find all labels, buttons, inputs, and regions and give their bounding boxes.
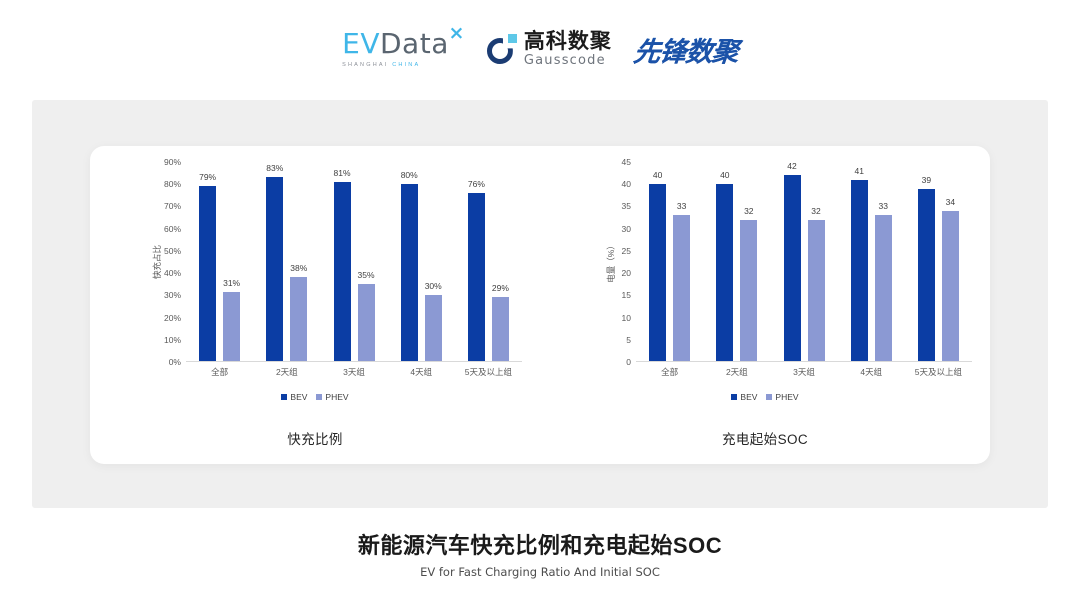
bar-phev[interactable]: 30% [425,295,442,361]
chart-title-right: 充电起始SOC [548,428,982,448]
x-axis-category-label: 全部 [186,366,253,378]
bar-value-label: 40 [653,170,662,180]
bar-group: 83%38% [253,162,320,361]
bar-phev[interactable]: 29% [492,297,509,361]
evdata-data-text: Data [380,27,449,60]
bar-groups-right: 40334032423241333934 [636,162,972,361]
gausscode-logo: 高科数聚 Gausscode [487,31,612,67]
bar-value-label: 33 [878,201,887,211]
bar-group: 4133 [838,162,905,361]
bar-bev[interactable]: 76% [468,193,485,361]
bar-group: 4033 [636,162,703,361]
y-tick-left: 40% [164,268,181,278]
evdata-logo: EVData × SHANGHAI CHINA [342,30,465,68]
bar-bev[interactable]: 80% [401,184,418,361]
y-axis-ticks-left: 0%10%20%30%40%50%60%70%80%90% [156,162,184,362]
bar-group: 79%31% [186,162,253,361]
evdata-tagline: SHANGHAI CHINA [342,62,420,68]
bar-value-label: 83% [266,163,283,173]
bar-phev[interactable]: 38% [290,277,307,361]
bar-value-label: 39 [922,175,931,185]
x-axis-categories-right: 全部2天组3天组4天组5天及以上组 [636,366,972,378]
bar-bev[interactable]: 41 [851,180,868,361]
y-tick-left: 20% [164,313,181,323]
gausscode-square-shape [508,34,517,43]
gausscode-cn-name: 高科数聚 [524,31,612,52]
bar-group: 4232 [770,162,837,361]
logo-bar: EVData × SHANGHAI CHINA 高科数聚 Gausscode 先… [0,0,1080,92]
legend-item-bev[interactable]: BEV [731,392,757,402]
y-tick-right: 30 [622,224,631,234]
x-axis-category-label: 2天组 [253,366,320,378]
bar-group: 76%29% [455,162,522,361]
bar-bev[interactable]: 83% [266,177,283,361]
evdata-wordmark: EVData × [342,30,449,58]
plot-area-left: 79%31%83%38%81%35%80%30%76%29% [186,162,522,362]
bar-group: 4032 [703,162,770,361]
y-tick-right: 40 [622,179,631,189]
bar-phev[interactable]: 32 [808,220,825,362]
legend-swatch-icon [766,394,772,400]
legend-label: BEV [740,392,757,402]
bar-value-label: 76% [468,179,485,189]
footer-title-en: EV for Fast Charging Ratio And Initial S… [0,565,1080,579]
y-tick-left: 10% [164,335,181,345]
x-axis-category-label: 4天组 [838,366,905,378]
y-tick-left: 80% [164,179,181,189]
chart-title-left: 快充比例 [98,428,532,448]
bar-group: 80%30% [388,162,455,361]
x-axis-categories-left: 全部2天组3天组4天组5天及以上组 [186,366,522,378]
legend-label: BEV [290,392,307,402]
bar-value-label: 32 [811,206,820,216]
y-tick-right: 20 [622,268,631,278]
bar-phev[interactable]: 33 [875,215,892,361]
footer: 新能源汽车快充比例和充电起始SOC EV for Fast Charging R… [0,528,1080,579]
bar-group: 81%35% [320,162,387,361]
legend-item-bev[interactable]: BEV [281,392,307,402]
evdata-tagline-shanghai: SHANGHAI [342,62,388,68]
bar-group: 3934 [905,162,972,361]
bar-groups-left: 79%31%83%38%81%35%80%30%76%29% [186,162,522,361]
bar-value-label: 81% [333,168,350,178]
x-axis-category-label: 5天及以上组 [455,366,522,378]
y-tick-right: 45 [622,157,631,167]
y-tick-left: 90% [164,157,181,167]
y-tick-left: 50% [164,246,181,256]
legend-swatch-icon [281,394,287,400]
xianfeng-logo: 先锋数聚 [632,30,740,69]
bar-bev[interactable]: 42 [784,175,801,361]
y-tick-right: 35 [622,201,631,211]
y-tick-right: 15 [622,290,631,300]
legend-label: PHEV [775,392,798,402]
bar-bev[interactable]: 79% [199,186,216,361]
evdata-cross-icon: × [448,24,464,43]
gausscode-text: 高科数聚 Gausscode [524,31,612,67]
bar-bev[interactable]: 39 [918,189,935,361]
y-tick-right: 10 [622,313,631,323]
bar-value-label: 38% [290,263,307,273]
x-axis-category-label: 全部 [636,366,703,378]
bar-value-label: 33 [677,201,686,211]
bar-value-label: 29% [492,283,509,293]
y-tick-left: 0% [169,357,181,367]
footer-title-cn: 新能源汽车快充比例和充电起始SOC [0,528,1080,560]
bar-value-label: 35% [357,270,374,280]
x-axis-category-label: 5天及以上组 [905,366,972,378]
bar-value-label: 34 [946,197,955,207]
legend-swatch-icon [316,394,322,400]
plot-area-right: 40334032423241333934 [636,162,972,362]
bar-value-label: 41 [854,166,863,176]
bar-value-label: 79% [199,172,216,182]
x-axis-category-label: 3天组 [770,366,837,378]
y-tick-right: 0 [626,357,631,367]
y-tick-left: 30% [164,290,181,300]
legend-right: BEVPHEV [548,392,982,402]
legend-item-phev[interactable]: PHEV [316,392,348,402]
evdata-ev-text: EV [342,27,380,60]
bar-phev[interactable]: 35% [358,284,375,361]
x-axis-category-label: 4天组 [388,366,455,378]
legend-swatch-icon [731,394,737,400]
x-axis-category-label: 2天组 [703,366,770,378]
charts-card: 快充占比 0%10%20%30%40%50%60%70%80%90% 79%31… [90,146,990,464]
chart-fast-charging-ratio: 快充占比 0%10%20%30%40%50%60%70%80%90% 79%31… [90,146,540,464]
bar-value-label: 80% [401,170,418,180]
bar-phev[interactable]: 34 [942,211,959,361]
bar-value-label: 40 [720,170,729,180]
bar-bev[interactable]: 40 [716,184,733,361]
bar-phev[interactable]: 33 [673,215,690,361]
bar-value-label: 32 [744,206,753,216]
bar-bev[interactable]: 81% [334,182,351,361]
bar-value-label: 30% [425,281,442,291]
evdata-tagline-china: CHINA [392,62,420,68]
bar-phev[interactable]: 32 [740,220,757,362]
bar-bev[interactable]: 40 [649,184,666,361]
legend-label: PHEV [325,392,348,402]
bar-value-label: 42 [787,161,796,171]
y-tick-left: 70% [164,201,181,211]
y-tick-right: 5 [626,335,631,345]
y-tick-right: 25 [622,246,631,256]
bar-phev[interactable]: 31% [223,292,240,361]
gausscode-en-name: Gausscode [524,54,612,67]
bar-value-label: 31% [223,278,240,288]
gausscode-mark-icon [487,34,517,64]
y-tick-left: 60% [164,224,181,234]
legend-left: BEVPHEV [98,392,532,402]
y-axis-ticks-right: 051015202530354045 [606,162,634,362]
plot-wrap-right: 电量（%） 051015202530354045 403340324232413… [592,162,972,362]
plot-wrap-left: 快充占比 0%10%20%30%40%50%60%70%80%90% 79%31… [142,162,522,362]
legend-item-phev[interactable]: PHEV [766,392,798,402]
x-axis-category-label: 3天组 [320,366,387,378]
chart-initial-soc: 电量（%） 051015202530354045 403340324232413… [540,146,990,464]
